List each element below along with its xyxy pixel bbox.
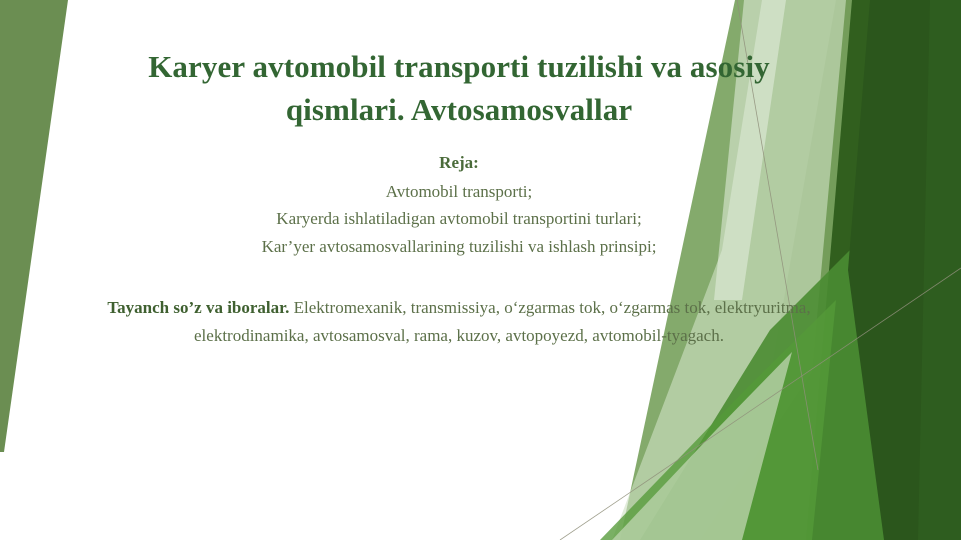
reja-heading: Reja: [78,150,840,176]
right-edge-dark-green [848,0,961,540]
reja-item-3: Kar’yer avtosamosvallarining tuzilishi v… [78,233,840,261]
reja-item-1: Avtomobil transporti; [78,178,840,206]
slide-title-line-2: qismlari. Avtosamosvallar [78,89,840,132]
slide-content: Karyer avtomobil transporti tuzilishi va… [78,46,840,367]
presentation-slide: Karyer avtomobil transporti tuzilishi va… [0,0,961,540]
reja-item-2: Karyerda ishlatiladigan avtomobil transp… [78,205,840,233]
slide-title-line-1: Karyer avtomobil transporti tuzilishi va… [78,46,840,89]
keywords-paragraph: Tayanch so’z va iboralar. Elektromexanik… [78,294,840,349]
far-right-stripe [918,0,961,540]
slide-title: Karyer avtomobil transporti tuzilishi va… [78,46,840,132]
keywords-lead-label: Tayanch so’z va iboralar. [107,298,289,317]
left-green-wedge [0,0,68,452]
bottom-left-pale-flank [612,352,792,540]
reja-list: Avtomobil transporti; Karyerda ishlatila… [78,178,840,261]
